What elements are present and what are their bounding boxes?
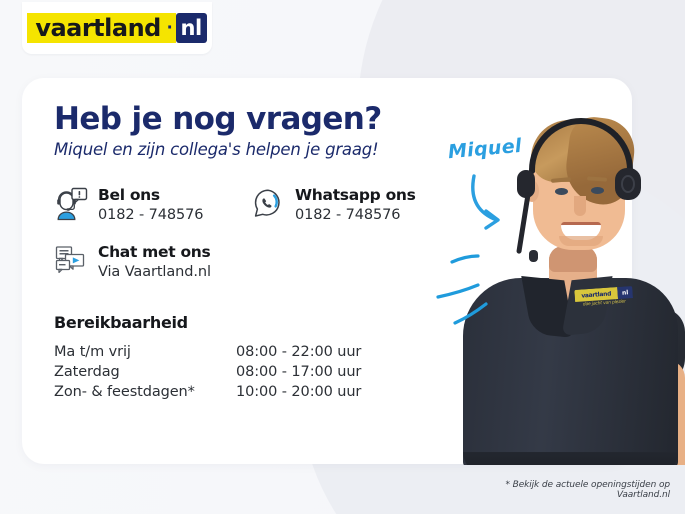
photo-shirt-hem — [463, 452, 678, 465]
contact-whatsapp-title: Whatsapp ons — [295, 186, 416, 204]
hours-time: 10:00 - 20:00 uur — [236, 382, 361, 402]
hours-day: Zon- & feestdagen* — [54, 382, 236, 402]
photo-eye-right — [591, 187, 604, 194]
contact-call[interactable]: Bel ons 0182 - 748576 — [54, 185, 251, 226]
shirt-logo-tld: nl — [617, 286, 633, 299]
headset-mic-tip — [529, 250, 538, 262]
headset-earcup-ring — [621, 175, 635, 193]
whatsapp-icon — [251, 186, 285, 222]
contact-call-title: Bel ons — [98, 186, 160, 204]
logo-tld: nl — [176, 13, 207, 43]
promo-banner: vaartland · nl Heb je nog vragen? Miquel… — [0, 0, 685, 514]
page-title: Heb je nog vragen? — [54, 102, 454, 138]
table-row: Zaterdag 08:00 - 17:00 uur — [54, 362, 361, 382]
headset-mic-boom — [516, 192, 531, 254]
contact-chat-title: Chat met ons — [98, 243, 210, 261]
contact-whatsapp-number[interactable]: 0182 - 748576 — [295, 206, 416, 226]
headset-support-icon — [54, 186, 88, 222]
contact-chat-text: Chat met ons Via Vaartland.nl — [98, 242, 211, 283]
table-row: Zon- & feestdagen* 10:00 - 20:00 uur — [54, 382, 361, 402]
contact-methods: Bel ons 0182 - 748576 Whatsapp on — [54, 185, 454, 283]
contact-call-number[interactable]: 0182 - 748576 — [98, 206, 203, 226]
chat-bubbles-icon — [54, 243, 88, 279]
hours-day: Ma t/m vrij — [54, 342, 236, 362]
contact-whatsapp-text: Whatsapp ons 0182 - 748576 — [295, 185, 416, 226]
hours-time: 08:00 - 17:00 uur — [236, 362, 361, 382]
logo-separator-dot: · — [167, 13, 176, 43]
contact-chat-link[interactable]: Via Vaartland.nl — [98, 263, 211, 283]
contact-chat[interactable]: Chat met ons Via Vaartland.nl — [54, 242, 251, 283]
miquel-photo: vaartland nl dae jacht van plezier — [455, 60, 685, 465]
contact-call-text: Bel ons 0182 - 748576 — [98, 185, 203, 226]
opening-hours-table: Ma t/m vrij 08:00 - 22:00 uur Zaterdag 0… — [54, 342, 361, 402]
logo-wordmark: vaartland — [27, 13, 167, 43]
photo-nose — [574, 196, 586, 216]
shirt-logo-badge: vaartland nl dae jacht van plezier — [574, 286, 633, 312]
footnote: * Bekijk de actuele openingstijden op Va… — [455, 480, 670, 500]
card-content: Heb je nog vragen? Miquel en zijn colleg… — [54, 102, 454, 402]
page-subtitle: Miquel en zijn collega's helpen je graag… — [54, 140, 454, 159]
photo-eye-left — [555, 188, 568, 195]
photo-chin-shadow — [559, 236, 603, 246]
table-row: Ma t/m vrij 08:00 - 22:00 uur — [54, 342, 361, 362]
hours-time: 08:00 - 22:00 uur — [236, 342, 361, 362]
logo-lockup: vaartland · nl — [27, 13, 206, 43]
hours-day: Zaterdag — [54, 362, 236, 382]
brand-logo[interactable]: vaartland · nl — [22, 2, 212, 54]
hours-heading: Bereikbaarheid — [54, 313, 454, 332]
contact-whatsapp[interactable]: Whatsapp ons 0182 - 748576 — [251, 185, 454, 226]
